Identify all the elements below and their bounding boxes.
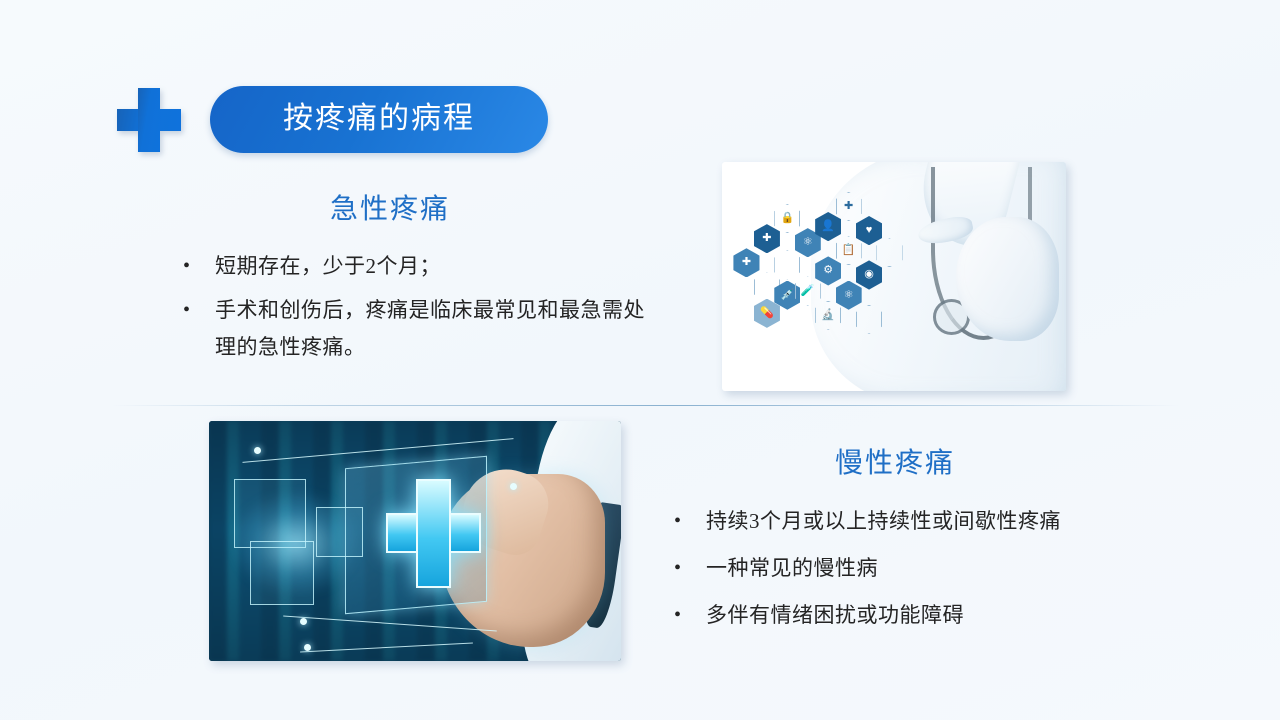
page-title: 按疼痛的病程	[283, 104, 475, 136]
holographic-cross-photo	[209, 421, 621, 661]
cross-vertical-bar	[416, 479, 451, 589]
bullet-list-chronic-pain: 持续3个月或以上持续性或间歇性疼痛 一种常见的慢性病 多伴有情绪困扰或功能障碍	[672, 503, 1172, 634]
cross-vertical-bar	[138, 88, 160, 152]
hex-blank-icon	[876, 238, 902, 267]
hex-cross-icon: ✚	[836, 192, 862, 221]
hex-lock-icon: 🔒	[774, 204, 800, 233]
glowing-medical-cross-icon	[386, 479, 477, 585]
section-heading-chronic-pain: 慢性疼痛	[835, 450, 955, 478]
hologram-wireframe-box	[250, 541, 314, 605]
slide-canvas: 按疼痛的病程 急性疼痛 短期存在，少于2个月； 手术和创伤后，疼痛是临床最常见和…	[0, 0, 1280, 720]
gloved-hand	[956, 217, 1059, 341]
hex-microscope-icon: 🔬	[815, 301, 841, 330]
photo-artwork	[209, 421, 621, 661]
hex-cross-icon: ✚	[733, 248, 759, 277]
hologram-wireframe-box	[234, 479, 306, 548]
bullet-list-acute-pain: 短期存在，少于2个月； 手术和创伤后，疼痛是临床最常见和最急需处理的急性疼痛。	[181, 248, 651, 366]
hexagon-icon-cloud: ✚ ✚ 🔒 💊 💉 ⚛ 🧪 👤 ⚙ 🔬 ✚ 📋 ⚛ ♥ ◉	[729, 176, 956, 378]
hologram-node-dot	[300, 618, 307, 625]
hologram-wireframe-box	[316, 507, 363, 557]
hex-blank-icon	[856, 305, 882, 334]
list-item: 持续3个月或以上持续性或间歇性疼痛	[672, 503, 1172, 540]
hex-cross-icon: ✚	[754, 224, 780, 253]
page-title-pill: 按疼痛的病程	[210, 86, 548, 153]
hex-heart-icon: ♥	[856, 216, 882, 245]
medical-cross-icon	[117, 88, 181, 152]
list-item: 一种常见的慢性病	[672, 550, 1172, 587]
hex-gear-icon: ⚙	[815, 256, 841, 285]
photo-artwork: ✚ ✚ 🔒 💊 💉 ⚛ 🧪 👤 ⚙ 🔬 ✚ 📋 ⚛ ♥ ◉	[722, 162, 1066, 391]
hex-molecule-icon: ⚛	[836, 281, 862, 310]
hologram-node-dot	[304, 644, 311, 651]
hex-clipboard-icon: 📋	[836, 236, 862, 265]
hex-blank-icon	[774, 250, 800, 279]
section-heading-acute-pain: 急性疼痛	[330, 196, 450, 224]
list-item: 手术和创伤后，疼痛是临床最常见和最急需处理的急性疼痛。	[181, 292, 651, 366]
list-item: 短期存在，少于2个月；	[181, 248, 651, 285]
hex-eye-icon: ◉	[856, 260, 882, 289]
list-item: 多伴有情绪困扰或功能障碍	[672, 597, 1172, 634]
medical-icons-hexagon-photo: ✚ ✚ 🔒 💊 💉 ⚛ 🧪 👤 ⚙ 🔬 ✚ 📋 ⚛ ♥ ◉	[722, 162, 1066, 391]
section-divider	[112, 405, 1180, 406]
slide-header: 按疼痛的病程	[0, 40, 1280, 122]
